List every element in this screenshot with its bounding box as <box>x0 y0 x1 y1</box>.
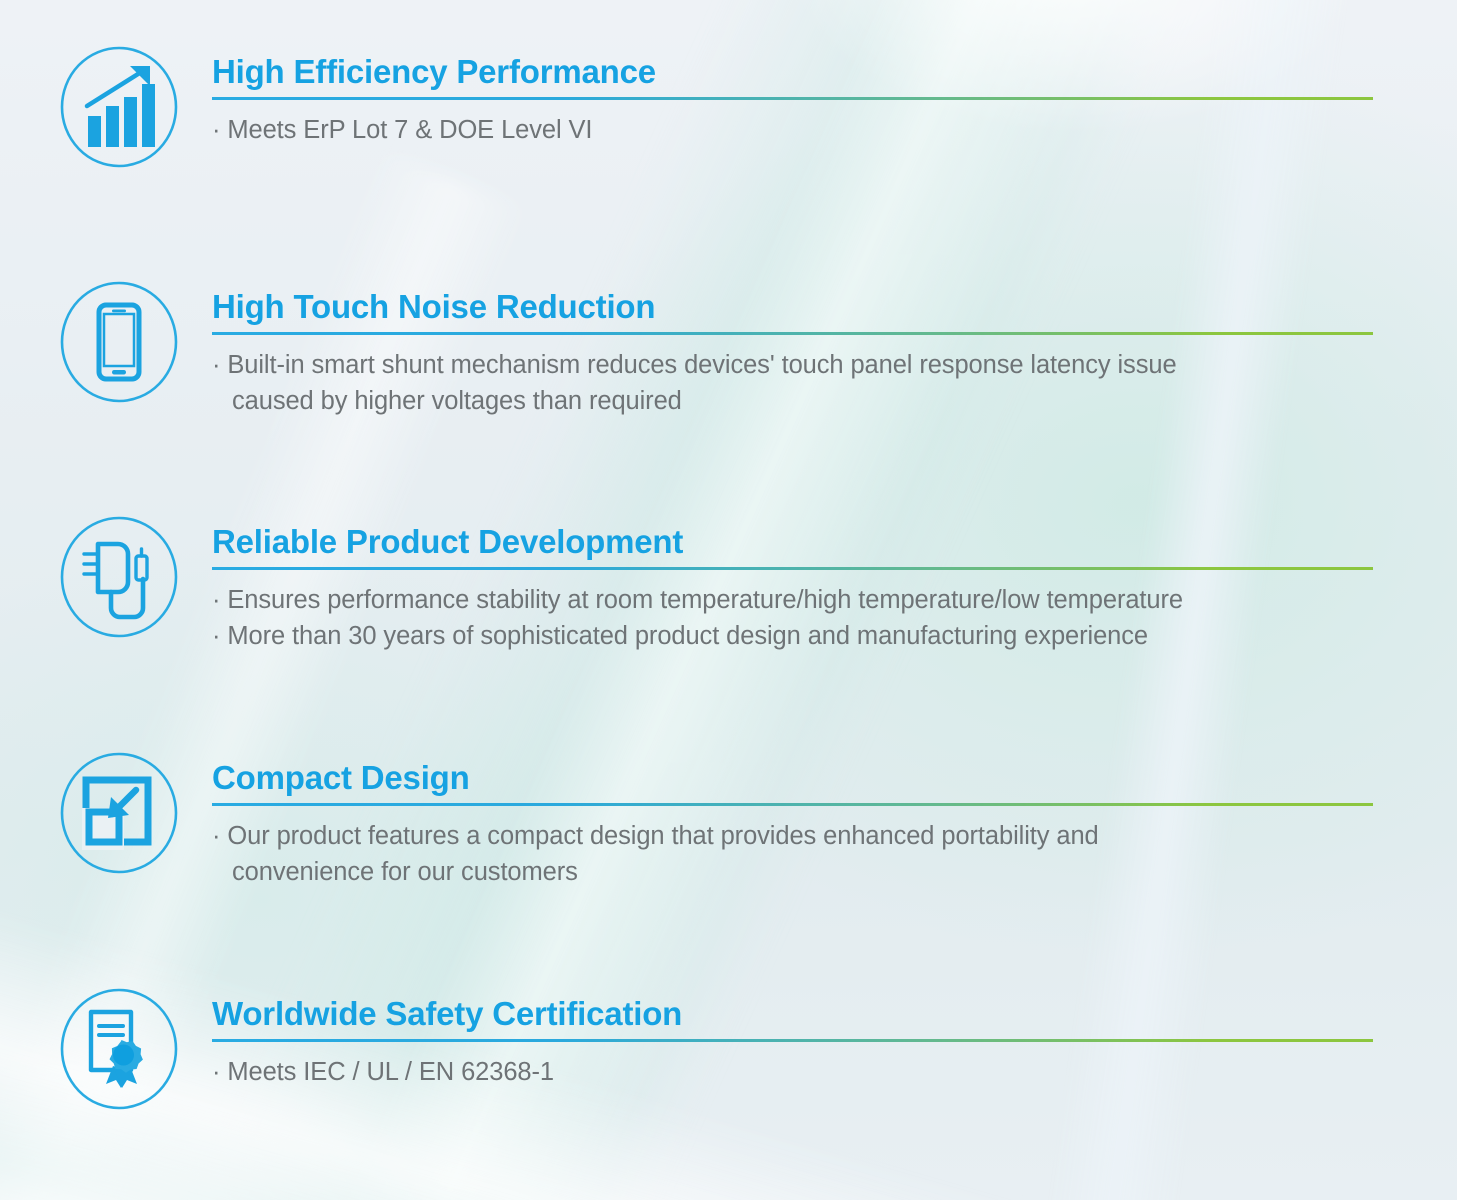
feature-title: Compact Design <box>212 760 1376 796</box>
feature-bullets: · Our product features a compact design … <box>212 818 1376 890</box>
certificate-award-icon <box>58 988 180 1110</box>
feature-text-block: High Touch Noise Reduction · Built-in sm… <box>212 289 1376 419</box>
feature-bullet: · Ensures performance stability at room … <box>212 582 1376 618</box>
feature-title: High Touch Noise Reduction <box>212 289 1376 325</box>
feature-bullet: · Our product features a compact design … <box>212 818 1376 854</box>
feature-bullet: convenience for our customers <box>212 854 1376 890</box>
feature-divider <box>212 1039 1373 1042</box>
feature-text-block: Reliable Product Development · Ensures p… <box>212 524 1376 654</box>
feature-divider <box>212 332 1373 335</box>
feature-bullets: · Built-in smart shunt mechanism reduces… <box>212 347 1376 419</box>
power-adapter-icon <box>58 516 180 638</box>
feature-title: Worldwide Safety Certification <box>212 996 1376 1032</box>
feature-text-block: High Efficiency Performance · Meets ErP … <box>212 54 1376 148</box>
feature-divider <box>212 567 1373 570</box>
feature-title: High Efficiency Performance <box>212 54 1376 90</box>
feature-title: Reliable Product Development <box>212 524 1376 560</box>
feature-bullets: · Meets IEC / UL / EN 62368-1 <box>212 1054 1376 1090</box>
feature-bullets: · Ensures performance stability at room … <box>212 582 1376 654</box>
feature-bullet: · Built-in smart shunt mechanism reduces… <box>212 347 1376 383</box>
features-list: High Efficiency Performance · Meets ErP … <box>0 0 1457 1200</box>
compact-resize-icon <box>58 752 180 874</box>
feature-text-block: Worldwide Safety Certification · Meets I… <box>212 996 1376 1090</box>
feature-divider <box>212 97 1373 100</box>
feature-bullet: · More than 30 years of sophisticated pr… <box>212 618 1376 654</box>
growth-bar-chart-icon <box>58 46 180 168</box>
smartphone-icon <box>58 281 180 403</box>
feature-bullet: caused by higher voltages than required <box>212 383 1376 419</box>
feature-divider <box>212 803 1373 806</box>
feature-highlights-page: High Efficiency Performance · Meets ErP … <box>0 0 1457 1200</box>
feature-bullet: · Meets IEC / UL / EN 62368-1 <box>212 1054 1376 1090</box>
feature-bullet: · Meets ErP Lot 7 & DOE Level VI <box>212 112 1376 148</box>
feature-text-block: Compact Design · Our product features a … <box>212 760 1376 890</box>
feature-bullets: · Meets ErP Lot 7 & DOE Level VI <box>212 112 1376 148</box>
